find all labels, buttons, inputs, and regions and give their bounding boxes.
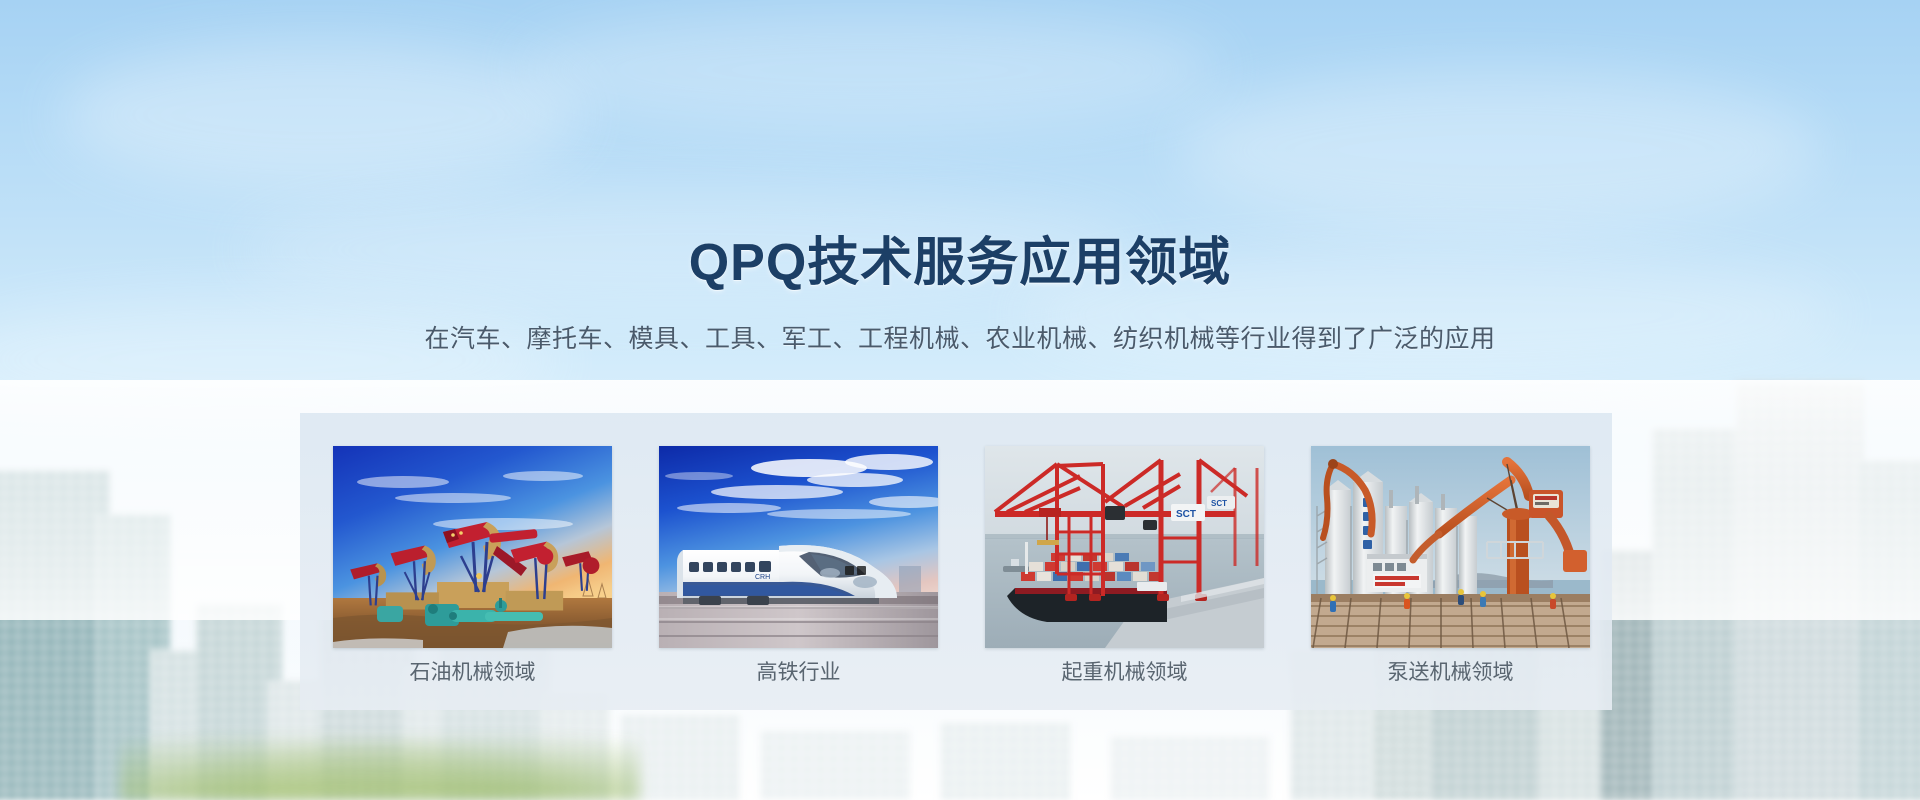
- application-card[interactable]: [333, 446, 612, 648]
- port-gantry-cranes-container-ship-image[interactable]: SCT SCT: [985, 446, 1264, 648]
- page-subtitle: 在汽车、摩托车、模具、工具、军工、工程机械、农业机械、纺织机械等行业得到了广泛的…: [0, 327, 1920, 352]
- foliage-blur: [120, 730, 640, 800]
- application-card[interactable]: CRH: [659, 446, 938, 648]
- card-caption: 起重机械领域: [985, 662, 1264, 683]
- cloud-shape: [520, 10, 1220, 130]
- card-caption: 石油机械领域: [333, 662, 612, 683]
- cloud-shape: [60, 40, 580, 190]
- oil-pumpjack-field-at-sunset-image[interactable]: [333, 446, 612, 648]
- cloud-shape: [1180, 70, 1820, 230]
- concrete-pump-boom-and-silos-image[interactable]: [1311, 446, 1590, 648]
- svg-text:SCT: SCT: [1176, 509, 1196, 520]
- svg-text:CRH: CRH: [755, 574, 770, 581]
- hero-banner: QPQ技术服务应用领域 在汽车、摩托车、模具、工具、军工、工程机械、农业机械、纺…: [0, 0, 1920, 800]
- card-caption: 泵送机械领域: [1311, 662, 1590, 683]
- svg-text:SCT: SCT: [1211, 499, 1227, 508]
- application-card[interactable]: [1311, 446, 1590, 648]
- page-title: QPQ技术服务应用领域: [0, 237, 1920, 289]
- application-card[interactable]: SCT SCT: [985, 446, 1264, 648]
- card-caption: 高铁行业: [659, 662, 938, 683]
- high-speed-train-crh-image[interactable]: CRH: [659, 446, 938, 648]
- application-card-list: CRH: [333, 446, 1584, 648]
